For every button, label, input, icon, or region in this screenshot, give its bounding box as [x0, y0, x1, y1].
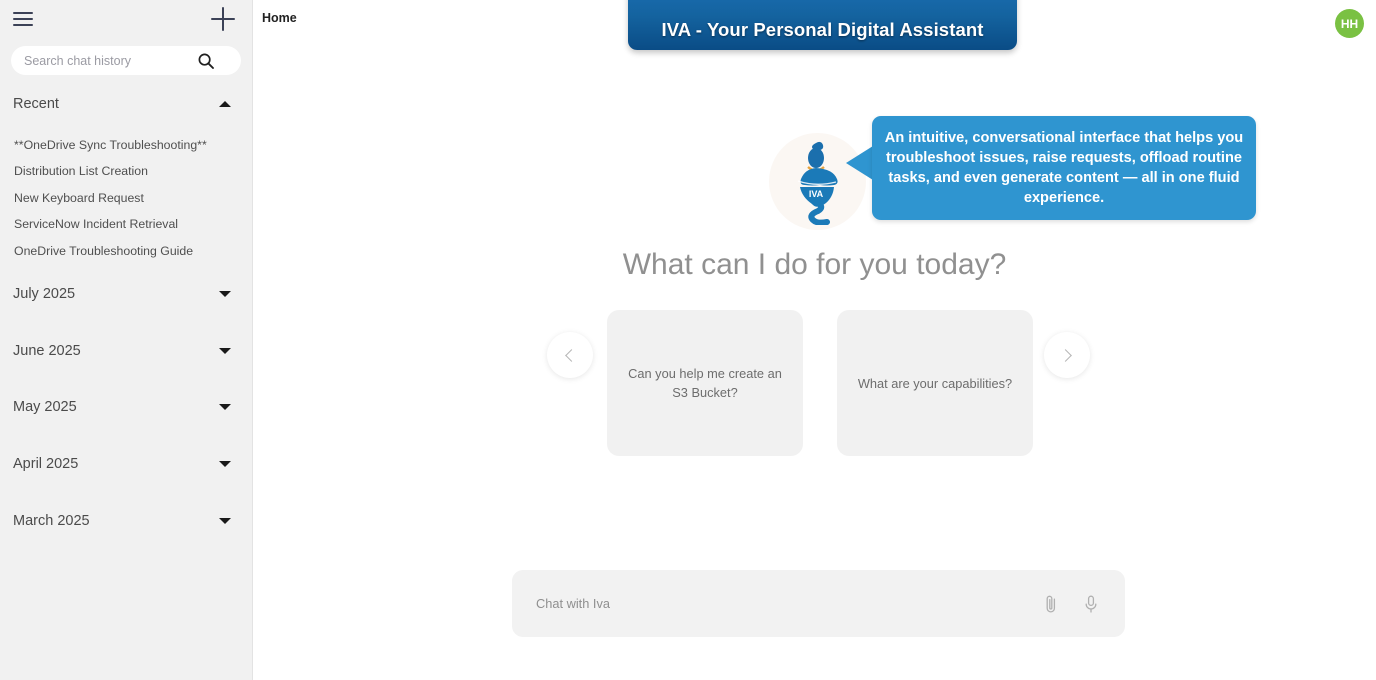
chat-history-title: **OneDrive Sync Troubleshooting**: [0, 138, 207, 152]
chevron-down-icon[interactable]: [219, 518, 231, 524]
search-input[interactable]: [11, 47, 197, 74]
suggestion-card[interactable]: Can you help me create an S3 Bucket?: [607, 310, 803, 456]
list-item[interactable]: Distribution List Creation: [0, 160, 253, 182]
iva-app: Recent **OneDrive Sync Troubleshooting**…: [0, 0, 1376, 680]
chat-history-title: ServiceNow Incident Retrieval: [0, 217, 178, 231]
list-item[interactable]: ServiceNow Incident Retrieval: [0, 213, 253, 235]
sidebar-toolbar: [0, 0, 252, 40]
hamburger-icon[interactable]: [13, 9, 35, 29]
avatar-initials: HH: [1341, 17, 1358, 31]
chat-input[interactable]: [512, 584, 1041, 624]
sidebar-section-label: July 2025: [0, 286, 75, 302]
chevron-left-icon: [565, 349, 578, 362]
list-item[interactable]: New Keyboard Request: [0, 187, 253, 209]
chevron-down-icon[interactable]: [219, 461, 231, 467]
speech-bubble-tail: [846, 146, 873, 180]
hero-heading: What can I do for you today?: [253, 248, 1376, 282]
sidebar-section-label: May 2025: [0, 399, 77, 415]
sidebar-section-recent[interactable]: Recent: [0, 89, 253, 119]
suggestion-card-text: What are your capabilities?: [858, 374, 1012, 393]
sidebar-section-label: June 2025: [0, 343, 81, 359]
chevron-right-icon: [1059, 349, 1072, 362]
paperclip-icon[interactable]: [1041, 593, 1061, 615]
sidebar-section-march-2025[interactable]: March 2025: [0, 506, 253, 536]
chevron-down-icon[interactable]: [219, 348, 231, 354]
plus-icon[interactable]: [211, 7, 235, 31]
chat-input-bar[interactable]: [512, 570, 1125, 637]
sidebar: Recent **OneDrive Sync Troubleshooting**…: [0, 0, 253, 680]
avatar[interactable]: HH: [1335, 9, 1364, 38]
chat-history-title: New Keyboard Request: [0, 191, 144, 205]
suggestion-card[interactable]: What are your capabilities?: [837, 310, 1033, 456]
microphone-icon[interactable]: [1081, 593, 1101, 615]
list-item[interactable]: OneDrive Troubleshooting Guide: [0, 240, 253, 262]
svg-text:IVA: IVA: [808, 189, 823, 199]
chevron-up-icon[interactable]: [219, 101, 231, 107]
suggestion-card-text: Can you help me create an S3 Bucket?: [623, 364, 787, 402]
sidebar-section-label: March 2025: [0, 513, 90, 529]
speech-bubble: An intuitive, conversational interface t…: [872, 116, 1256, 220]
search-icon[interactable]: [197, 52, 215, 70]
sidebar-section-recent-label: Recent: [0, 96, 59, 112]
chat-history-title: Distribution List Creation: [0, 164, 148, 178]
app-title-banner: IVA - Your Personal Digital Assistant: [628, 0, 1017, 50]
speech-bubble-text: An intuitive, conversational interface t…: [884, 128, 1244, 208]
sidebar-section-april-2025[interactable]: April 2025: [0, 449, 253, 479]
page-title: IVA - Your Personal Digital Assistant: [661, 19, 983, 41]
suggestion-carousel: Can you help me create an S3 Bucket? Wha…: [253, 310, 1376, 460]
chevron-down-icon[interactable]: [219, 291, 231, 297]
chat-history-title: OneDrive Troubleshooting Guide: [0, 244, 193, 258]
list-item[interactable]: **OneDrive Sync Troubleshooting**: [0, 134, 253, 156]
search-chat-history[interactable]: [11, 46, 241, 75]
sidebar-section-may-2025[interactable]: May 2025: [0, 392, 253, 422]
sidebar-section-june-2025[interactable]: June 2025: [0, 336, 253, 366]
breadcrumb[interactable]: Home: [262, 11, 297, 25]
carousel-prev-button[interactable]: [547, 332, 593, 378]
sidebar-section-label: April 2025: [0, 456, 78, 472]
chevron-down-icon[interactable]: [219, 404, 231, 410]
carousel-next-button[interactable]: [1044, 332, 1090, 378]
sidebar-section-july-2025[interactable]: July 2025: [0, 279, 253, 309]
